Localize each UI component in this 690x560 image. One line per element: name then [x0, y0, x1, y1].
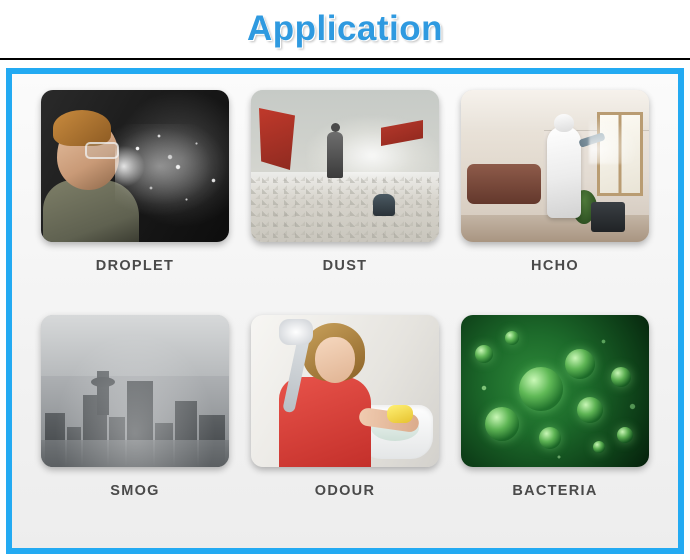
odour-illustration — [251, 315, 439, 467]
thumbnail-hcho[interactable] — [461, 90, 649, 242]
caption-bacteria: BACTERIA — [512, 483, 597, 499]
thumbnail-droplet[interactable] — [41, 90, 229, 242]
caption-droplet: DROPLET — [96, 258, 174, 274]
droplet-person-glasses — [85, 142, 119, 159]
application-slide: Application DROPLET — [0, 0, 690, 560]
dust-worker-standing — [327, 132, 343, 178]
gallery-item-droplet[interactable]: DROPLET — [30, 90, 240, 315]
thumbnail-odour[interactable] — [251, 315, 439, 467]
gallery-item-smog[interactable]: SMOG — [30, 315, 240, 540]
bacteria-illustration — [461, 315, 649, 467]
hcho-television — [591, 202, 625, 232]
caption-hcho: HCHO — [531, 258, 579, 274]
droplet-illustration — [41, 90, 229, 242]
gallery-item-odour[interactable]: ODOUR — [240, 315, 450, 540]
thumbnail-bacteria[interactable] — [461, 315, 649, 467]
caption-smog: SMOG — [110, 483, 160, 499]
content-frame-inner: DROPLET D — [12, 74, 678, 548]
odour-brush-head — [279, 319, 313, 345]
gallery-item-dust[interactable]: DUST — [240, 90, 450, 315]
gallery-item-hcho[interactable]: HCHO — [450, 90, 660, 315]
dust-worker-crouching — [373, 194, 395, 216]
slide-title-bar: Application — [0, 0, 690, 60]
smog-illustration — [41, 315, 229, 467]
hcho-worker-in-suit — [547, 126, 581, 218]
hcho-illustration — [461, 90, 649, 242]
droplet-spray-particles — [115, 124, 227, 216]
odour-cleaning-glove — [387, 405, 413, 423]
hcho-spray-mist — [589, 114, 643, 164]
odour-woman-face — [315, 337, 355, 383]
gallery-item-bacteria[interactable]: BACTERIA — [450, 315, 660, 540]
thumbnail-dust[interactable] — [251, 90, 439, 242]
bacteria-spore-dots — [461, 315, 649, 467]
thumbnail-smog[interactable] — [41, 315, 229, 467]
droplet-person-hair — [53, 110, 111, 146]
dust-rubble-ground — [251, 172, 439, 242]
dust-red-debris-left — [259, 108, 295, 170]
smog-haze-overlay — [41, 315, 229, 467]
content-frame: DROPLET D — [6, 68, 684, 554]
caption-odour: ODOUR — [315, 483, 375, 499]
hcho-sofa — [467, 164, 541, 204]
caption-dust: DUST — [323, 258, 368, 274]
application-gallery-grid: DROPLET D — [12, 74, 678, 548]
dust-illustration — [251, 90, 439, 242]
page-title: Application — [247, 9, 443, 49]
